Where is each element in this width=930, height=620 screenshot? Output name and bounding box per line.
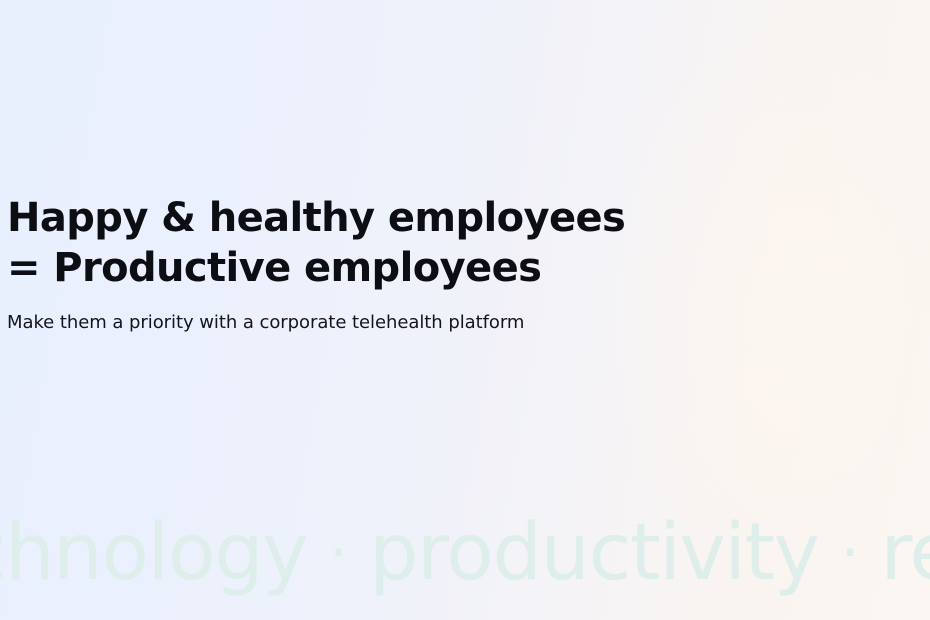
headline-line-1: Happy & healthy employees (7, 193, 625, 243)
marquee-separator-dot: · (818, 503, 880, 603)
keyword-marquee: technology · productivity · results (0, 486, 930, 620)
marquee-track: technology · productivity · results (0, 486, 930, 620)
hero-subheadline: Make them a priority with a corporate te… (7, 293, 625, 336)
marquee-separator-dot: · (307, 503, 369, 603)
headline-line-2: = Productive employees (7, 243, 625, 293)
hero-copy-block: Happy & healthy employees = Productive e… (7, 193, 625, 336)
marquee-word-results: results (880, 503, 930, 603)
page-title: Happy & healthy employees = Productive e… (7, 193, 625, 293)
marquee-word-technology: technology (0, 503, 307, 603)
marquee-word-productivity: productivity (369, 503, 818, 603)
hero-section: Happy & healthy employees = Productive e… (0, 0, 930, 620)
